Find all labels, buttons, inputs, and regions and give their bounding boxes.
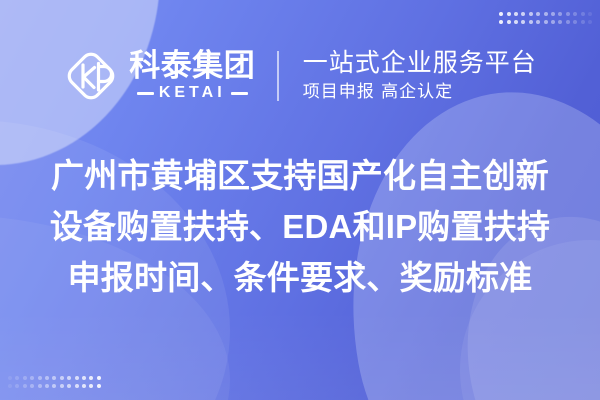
dot-icon [60,384,64,388]
brand-logo[interactable]: 科泰集团 KETAI [63,48,277,104]
brand-slogan: 一站式企业服务平台 项目申报 高企认定 [279,48,537,104]
promo-banner: 科泰集团 KETAI 一站式企业服务平台 项目申报 高企认定 广州市黄埔区支持国… [0,0,600,400]
dot-icon [23,376,27,380]
logo-name-en-row: KETAI [129,84,255,102]
dot-icon [23,384,27,388]
dot-icon [97,376,101,380]
logo-name-en: KETAI [159,84,226,102]
dot-icon [75,376,79,380]
dot-icon [15,384,19,388]
dot-icon [97,384,101,388]
dot-icon [507,12,511,16]
dot-icon [67,384,71,388]
dot-icon [60,376,64,380]
dot-icon [514,12,518,16]
dot-icon [558,12,562,16]
dot-icon [514,20,518,24]
dot-icon [529,20,533,24]
dot-icon [8,384,12,388]
banner-header: 科泰集团 KETAI 一站式企业服务平台 项目申报 高企认定 [0,36,600,116]
dot-grid-row [8,376,101,380]
slogan-main-text: 一站式企业服务平台 [303,48,537,79]
page-title-line-2: 设备购置扶持、EDA和IP购置扶持 [0,201,600,252]
dot-icon [52,384,56,388]
dot-icon [536,12,540,16]
dot-icon [588,12,592,16]
dot-icon [573,20,577,24]
dot-icon [38,376,42,380]
ketai-kp-monogram-icon [63,48,119,104]
dot-icon [521,12,525,16]
dot-grid-row [8,384,101,388]
dot-icon [588,20,592,24]
dot-icon [499,20,503,24]
dot-icon [67,376,71,380]
dot-icon [551,12,555,16]
dot-icon [75,384,79,388]
dot-icon [558,20,562,24]
dot-icon [551,20,555,24]
logo-rule-left-icon [137,92,154,95]
dot-icon [82,384,86,388]
dot-icon [89,384,93,388]
dot-icon [8,376,12,380]
dot-icon [521,20,525,24]
dot-grid-icon-top-right [499,12,592,24]
dot-icon [544,20,548,24]
dot-icon [581,20,585,24]
dot-icon [566,12,570,16]
dot-icon [45,376,49,380]
dot-grid-row [499,12,592,16]
dot-icon [536,20,540,24]
dot-grid-icon-bottom-left [8,376,101,388]
dot-icon [82,376,86,380]
logo-wordmark: 科泰集团 KETAI [129,50,255,103]
dot-icon [45,384,49,388]
dot-icon [573,12,577,16]
dot-icon [566,20,570,24]
dot-icon [507,20,511,24]
dot-icon [15,376,19,380]
dot-icon [89,376,93,380]
dot-grid-row [499,20,592,24]
dot-icon [30,376,34,380]
dot-icon [52,376,56,380]
logo-rule-right-icon [231,92,248,95]
dot-icon [38,384,42,388]
dot-icon [581,12,585,16]
dot-icon [544,12,548,16]
dot-icon [499,12,503,16]
dot-icon [30,384,34,388]
page-title-line-1: 广州市黄埔区支持国产化自主创新 [0,150,600,201]
dot-icon [529,12,533,16]
page-title-line-3: 申报时间、条件要求、奖励标准 [0,252,600,303]
banner-title: 广州市黄埔区支持国产化自主创新 设备购置扶持、EDA和IP购置扶持 申报时间、条… [0,150,600,303]
logo-name-cn: 科泰集团 [129,50,255,83]
slogan-sub-text: 项目申报 高企认定 [303,81,537,104]
